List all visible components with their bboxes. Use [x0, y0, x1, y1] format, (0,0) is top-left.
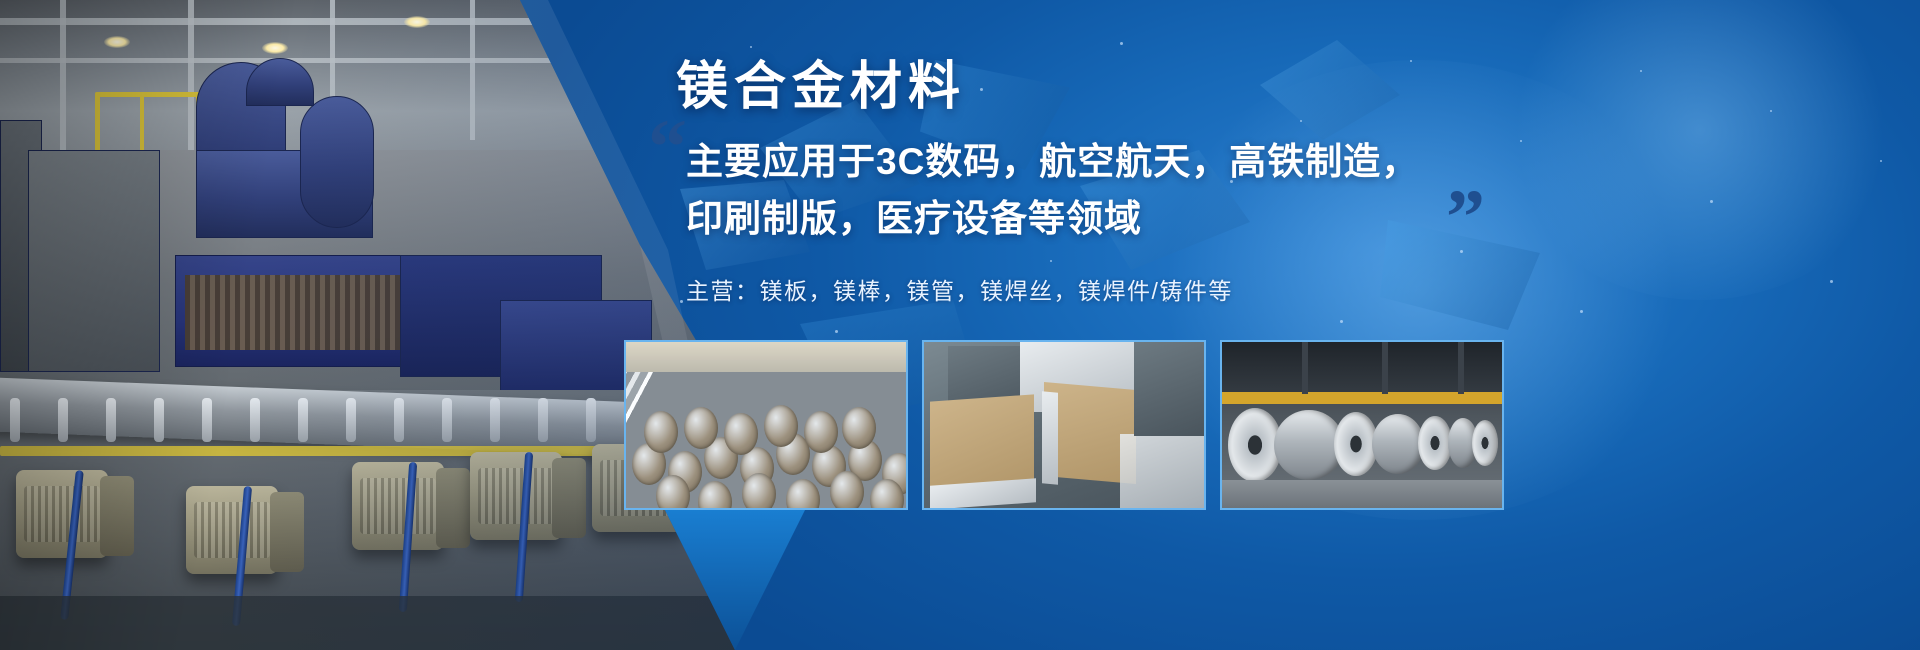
product-list-text: 主营：镁板，镁棒，镁管，镁焊丝，镁焊件/铸件等: [686, 272, 1233, 306]
lead-text: 主要应用于3C数码，航空航天，高铁制造， 印刷制版，医疗设备等领域: [686, 133, 1466, 247]
coils-photo: [1222, 342, 1502, 508]
thumbnail-magnesium-bars[interactable]: [624, 340, 908, 510]
roof-truss: [1382, 342, 1388, 394]
steel-coil: [1372, 414, 1424, 474]
steel-coil: [1472, 420, 1498, 466]
thumbnail-magnesium-plates[interactable]: [922, 340, 1206, 510]
lead-line-1: 主要应用于3C数码，航空航天，高铁制造，: [686, 133, 1466, 190]
quote-open-mark: “: [648, 108, 687, 186]
banner-content: 镁合金材料 “ ” 主要应用于3C数码，航空航天，高铁制造， 印刷制版，医疗设备…: [676, 0, 1916, 650]
plate-stack: [1134, 342, 1206, 436]
plates-photo: [924, 342, 1204, 508]
bars-photo: [626, 342, 906, 508]
plate-wrap: [1120, 434, 1206, 508]
hero-banner: 镁合金材料 “ ” 主要应用于3C数码，航空航天，高铁制造， 印刷制版，医疗设备…: [0, 0, 1920, 650]
page-title: 镁合金材料: [676, 44, 966, 119]
lead-line-2: 印刷制版，医疗设备等领域: [686, 190, 1466, 247]
bars-photo-background: [626, 342, 906, 372]
roof-truss: [1458, 342, 1464, 394]
bar-end-faces: [626, 403, 906, 508]
thumbnail-magnesium-coils[interactable]: [1220, 340, 1504, 510]
thumbnail-strip: [624, 340, 1914, 520]
steel-coil: [1418, 416, 1452, 470]
plate-edge: [1042, 391, 1058, 484]
roof-truss: [1302, 342, 1308, 394]
warehouse-floor: [1222, 480, 1502, 508]
